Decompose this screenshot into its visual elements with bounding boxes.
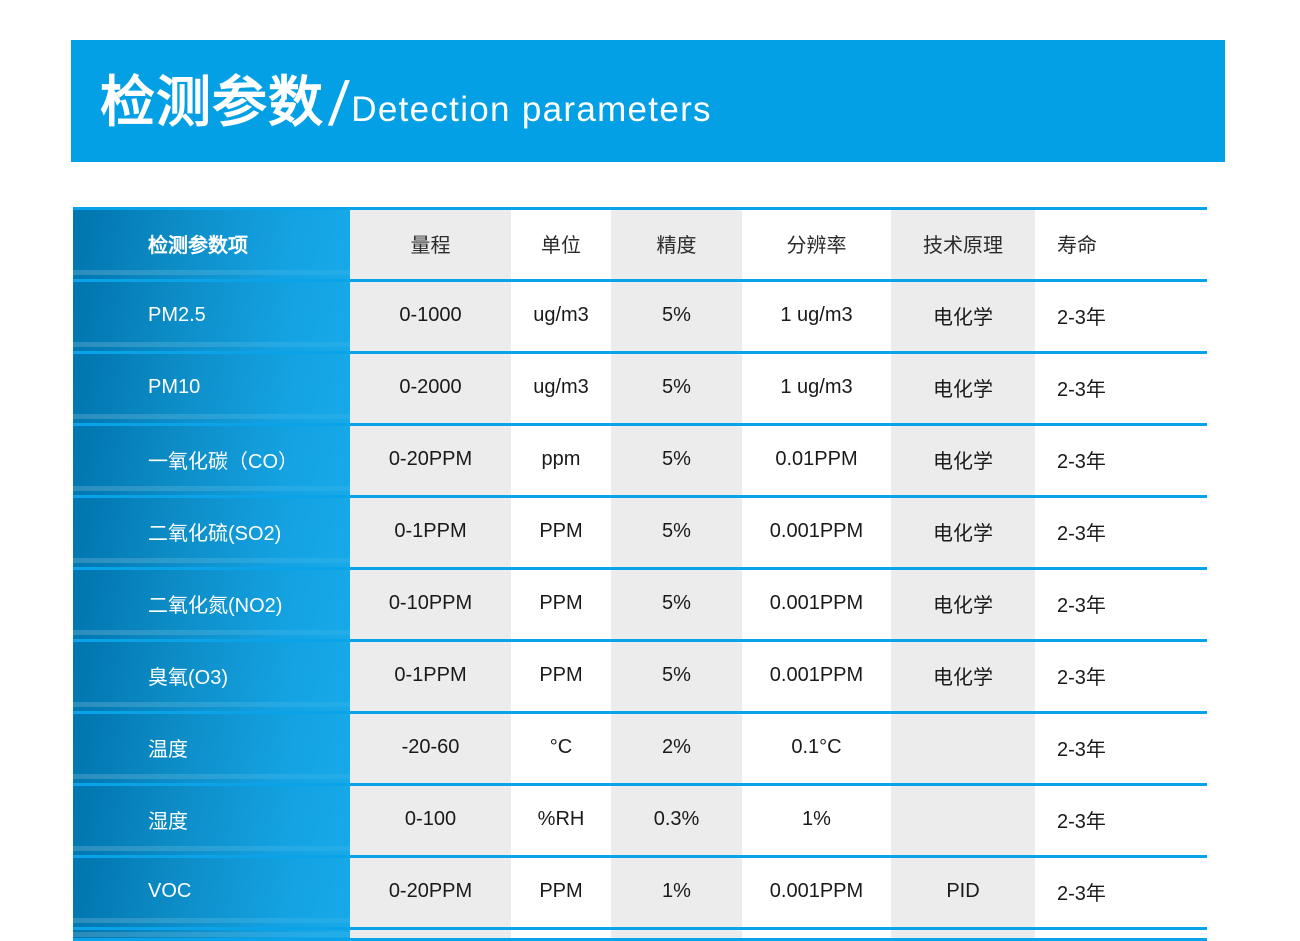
cell-resolution: 0.001PPM xyxy=(742,855,891,927)
cell-parameter: 二氧化硫(SO2) xyxy=(73,495,350,567)
cell-parameter: PM2.5 xyxy=(73,279,350,351)
cell-accuracy: 5% xyxy=(611,567,742,639)
cell-parameter: 温度 xyxy=(73,711,350,783)
cell-resolution: 1 ug/m3 xyxy=(742,279,891,351)
cell-resolution: 0.001PPM xyxy=(742,567,891,639)
cell-range: 0-20PPM xyxy=(350,423,511,495)
cell-unit: PPM xyxy=(511,639,611,711)
cell-range: 0-2000 xyxy=(350,351,511,423)
cell-unit: %RH xyxy=(511,783,611,855)
cell-accuracy: 2% xyxy=(611,711,742,783)
cell-lifespan: 2-3年 xyxy=(1035,639,1207,711)
cell-lifespan: 2-3年 xyxy=(1035,279,1207,351)
column-header-principle: 技术原理 xyxy=(891,207,1035,279)
cell-principle: 电化学 xyxy=(891,495,1035,567)
cell-accuracy: 0.3% xyxy=(611,783,742,855)
table-row-clipped xyxy=(73,927,1207,941)
cell-accuracy: 5% xyxy=(611,639,742,711)
cell-resolution xyxy=(742,927,891,941)
cell-range: -20-60 xyxy=(350,711,511,783)
cell-principle: 电化学 xyxy=(891,423,1035,495)
cell-principle xyxy=(891,927,1035,941)
cell-accuracy: 5% xyxy=(611,495,742,567)
cell-lifespan: 2-3年 xyxy=(1035,567,1207,639)
cell-range: 0-10PPM xyxy=(350,567,511,639)
cell-accuracy xyxy=(611,927,742,941)
cell-range: 0-20PPM xyxy=(350,855,511,927)
cell-principle: 电化学 xyxy=(891,279,1035,351)
cell-lifespan: 2-3年 xyxy=(1035,783,1207,855)
column-header-resolution: 分辨率 xyxy=(742,207,891,279)
table-row: VOC 0-20PPM PPM 1% 0.001PPM PID 2-3年 xyxy=(73,855,1207,927)
cell-principle: 电化学 xyxy=(891,639,1035,711)
cell-range: 0-1000 xyxy=(350,279,511,351)
table-row: 一氧化碳（CO） 0-20PPM ppm 5% 0.01PPM 电化学 2-3年 xyxy=(73,423,1207,495)
banner-title-group: 检测参数 / Detection parameters xyxy=(100,70,712,132)
cell-unit: ppm xyxy=(511,423,611,495)
cell-parameter: 湿度 xyxy=(73,783,350,855)
cell-unit: °C xyxy=(511,711,611,783)
column-header-range: 量程 xyxy=(350,207,511,279)
cell-parameter: PM10 xyxy=(73,351,350,423)
column-header-parameter: 检测参数项 xyxy=(73,207,350,279)
table-row: 温度 -20-60 °C 2% 0.1°C 2-3年 xyxy=(73,711,1207,783)
page-title-chinese: 检测参数 xyxy=(100,75,324,130)
column-header-lifespan: 寿命 xyxy=(1035,207,1207,279)
cell-unit: ug/m3 xyxy=(511,279,611,351)
cell-range: 0-1PPM xyxy=(350,639,511,711)
cell-lifespan: 2-3年 xyxy=(1035,711,1207,783)
cell-resolution: 1% xyxy=(742,783,891,855)
cell-resolution: 0.1°C xyxy=(742,711,891,783)
cell-principle xyxy=(891,783,1035,855)
table-row: 湿度 0-100 %RH 0.3% 1% 2-3年 xyxy=(73,783,1207,855)
table-row: 二氧化硫(SO2) 0-1PPM PPM 5% 0.001PPM 电化学 2-3… xyxy=(73,495,1207,567)
cell-parameter: VOC xyxy=(73,855,350,927)
cell-unit: PPM xyxy=(511,855,611,927)
cell-resolution: 0.01PPM xyxy=(742,423,891,495)
cell-unit: PPM xyxy=(511,495,611,567)
table-row: 二氧化氮(NO2) 0-10PPM PPM 5% 0.001PPM 电化学 2-… xyxy=(73,567,1207,639)
column-header-unit: 单位 xyxy=(511,207,611,279)
cell-principle: 电化学 xyxy=(891,351,1035,423)
title-slash-separator: / xyxy=(327,74,351,136)
cell-unit: ug/m3 xyxy=(511,351,611,423)
cell-range: 0-100 xyxy=(350,783,511,855)
table-row: PM10 0-2000 ug/m3 5% 1 ug/m3 电化学 2-3年 xyxy=(73,351,1207,423)
cell-unit: PPM xyxy=(511,567,611,639)
page-banner: 检测参数 / Detection parameters xyxy=(71,40,1225,162)
cell-accuracy: 5% xyxy=(611,423,742,495)
table-row: 臭氧(O3) 0-1PPM PPM 5% 0.001PPM 电化学 2-3年 xyxy=(73,639,1207,711)
cell-resolution: 1 ug/m3 xyxy=(742,351,891,423)
cell-lifespan: 2-3年 xyxy=(1035,495,1207,567)
column-header-accuracy: 精度 xyxy=(611,207,742,279)
cell-resolution: 0.001PPM xyxy=(742,495,891,567)
cell-accuracy: 5% xyxy=(611,351,742,423)
cell-range xyxy=(350,927,511,941)
table-row: PM2.5 0-1000 ug/m3 5% 1 ug/m3 电化学 2-3年 xyxy=(73,279,1207,351)
cell-accuracy: 1% xyxy=(611,855,742,927)
cell-lifespan xyxy=(1035,927,1207,941)
cell-lifespan: 2-3年 xyxy=(1035,855,1207,927)
cell-lifespan: 2-3年 xyxy=(1035,423,1207,495)
cell-principle: PID xyxy=(891,855,1035,927)
cell-range: 0-1PPM xyxy=(350,495,511,567)
detection-parameters-table: 检测参数项 量程 单位 精度 分辨率 技术原理 寿命 PM2.5 0-1000 … xyxy=(73,207,1207,941)
cell-lifespan: 2-3年 xyxy=(1035,351,1207,423)
cell-accuracy: 5% xyxy=(611,279,742,351)
cell-principle: 电化学 xyxy=(891,567,1035,639)
cell-parameter xyxy=(73,927,350,941)
cell-parameter: 二氧化氮(NO2) xyxy=(73,567,350,639)
page-title-english: Detection parameters xyxy=(351,92,712,127)
cell-unit xyxy=(511,927,611,941)
cell-parameter: 一氧化碳（CO） xyxy=(73,423,350,495)
cell-principle xyxy=(891,711,1035,783)
cell-parameter: 臭氧(O3) xyxy=(73,639,350,711)
cell-resolution: 0.001PPM xyxy=(742,639,891,711)
table-header-row: 检测参数项 量程 单位 精度 分辨率 技术原理 寿命 xyxy=(73,207,1207,279)
